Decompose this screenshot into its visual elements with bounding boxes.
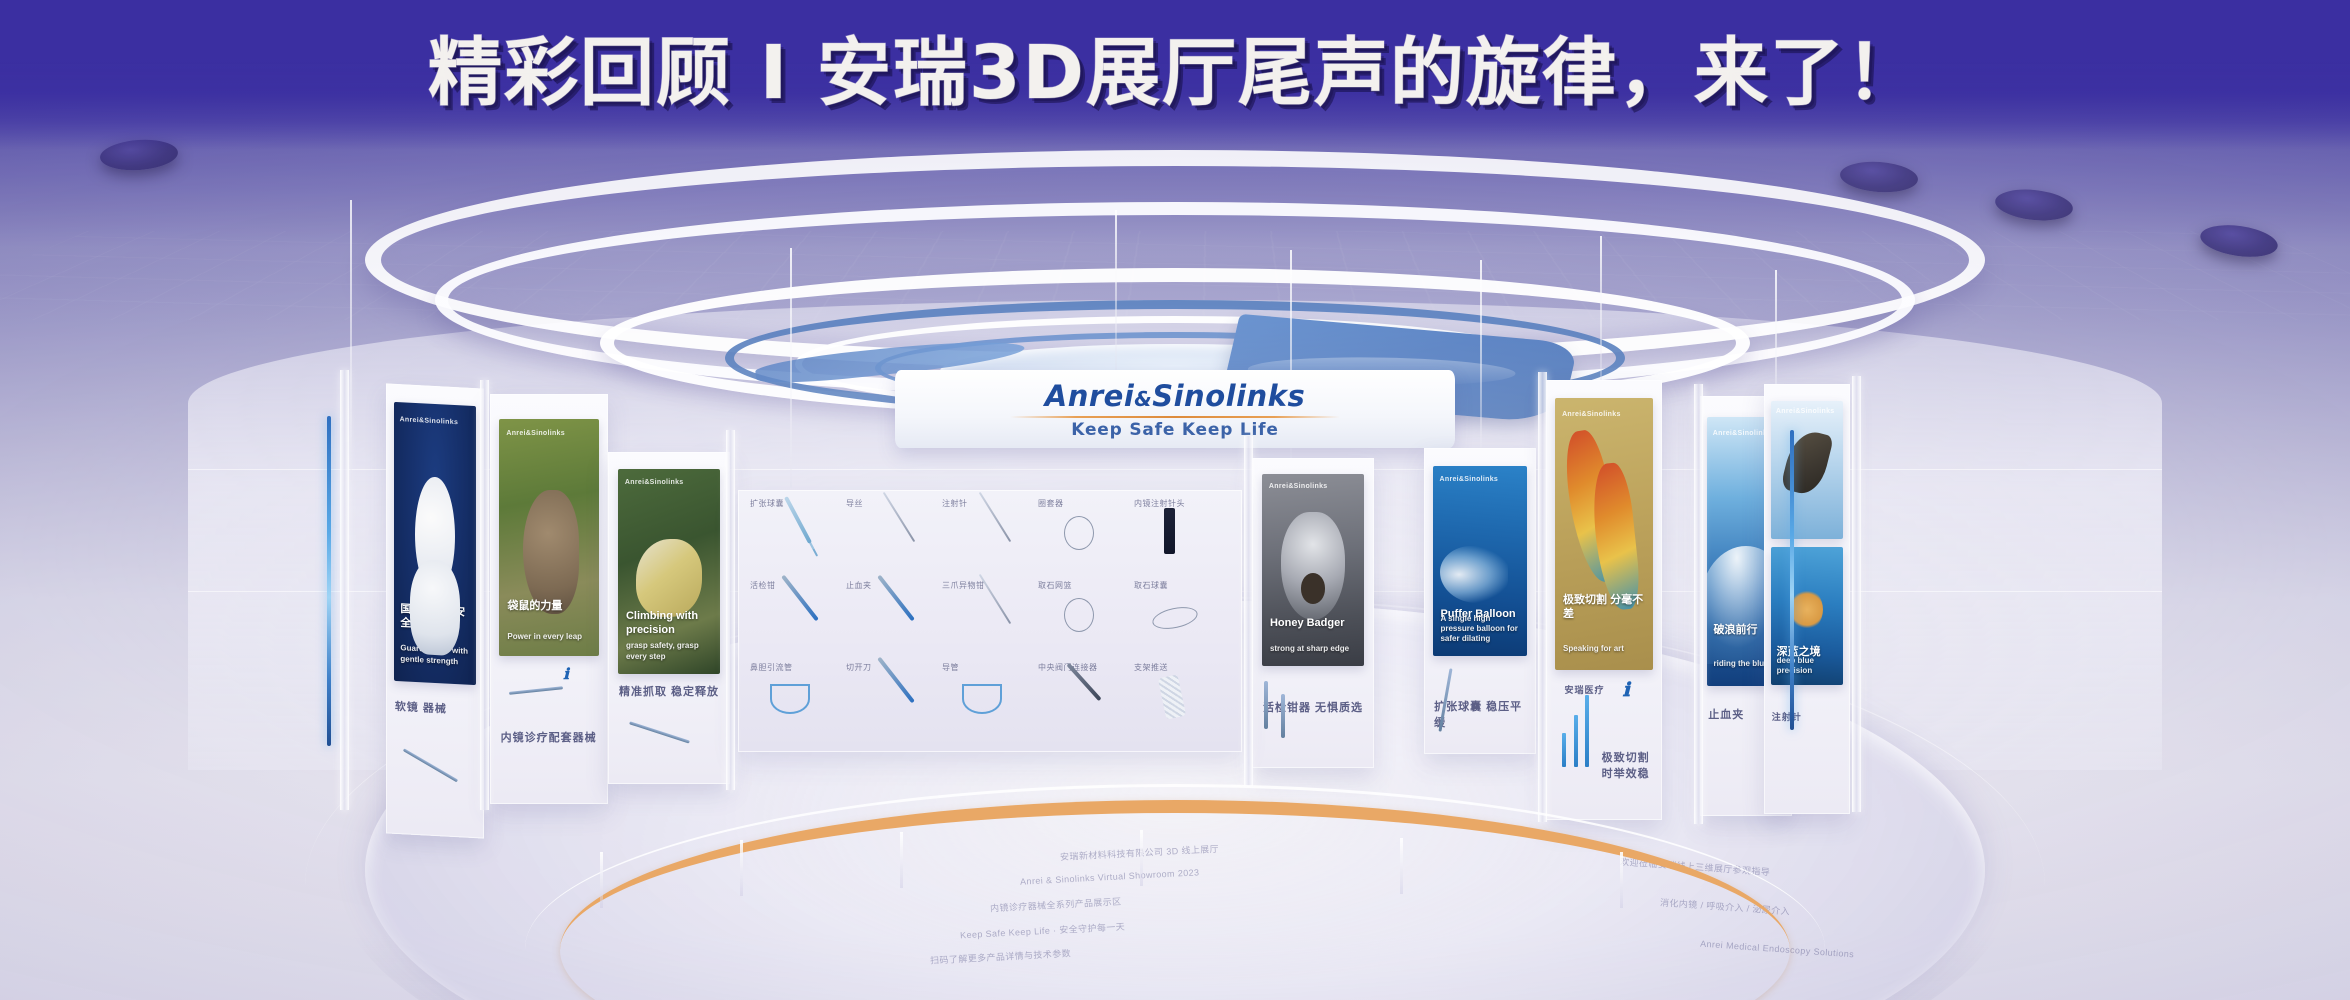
product-cell[interactable]: 导丝 (846, 498, 942, 580)
poster-brand-mark: Anrei&Sinolinks (1713, 430, 1772, 437)
exhibit-panel-puffer[interactable]: Anrei&Sinolinks Puffer Balloon A single … (1424, 448, 1536, 754)
product-board-row: 活检钳止血夹三爪异物钳取石网篮取石球囊 (750, 580, 1230, 662)
structural-pillar (1694, 384, 1703, 824)
brand-name: Anrei&Sinolinks (1045, 379, 1305, 413)
structural-pillar (340, 370, 349, 810)
product-label: 支架推送 (1134, 662, 1230, 673)
product-label: 取石球囊 (1134, 580, 1230, 591)
product-illustration (1064, 516, 1094, 550)
poster-brand-mark: Anrei&Sinolinks (1776, 408, 1835, 415)
product-cell[interactable]: 止血夹 (846, 580, 942, 662)
product-display-board[interactable]: 扩张球囊导丝注射针圈套器内镜注射针头活检钳止血夹三爪异物钳取石网篮取石球囊鼻胆引… (738, 490, 1242, 752)
structural-pillar (1538, 372, 1547, 822)
poster-subtitle: deep blue precision (1777, 656, 1838, 677)
device-illustration (509, 686, 563, 695)
product-label: 内镜注射针头 (1134, 498, 1230, 509)
product-cell[interactable]: 注射针 (942, 498, 1038, 580)
panel-caption: 精准抓取 稳定释放 (619, 684, 723, 701)
product-cell[interactable]: 支架推送 (1134, 662, 1230, 744)
rail-post (900, 832, 903, 888)
panel-caption: 活检钳器 无惧质选 (1263, 700, 1367, 717)
panel-caption: 扩张球囊 稳压平缓 (1434, 699, 1529, 732)
product-cell[interactable]: 圈套器 (1038, 498, 1134, 580)
rail-post (1140, 830, 1143, 886)
panel-caption: 注射针 (1772, 711, 1845, 725)
device-illustration (1281, 694, 1285, 738)
rail-post (1620, 852, 1623, 908)
exhibit-panel-badger[interactable]: Anrei&Sinolinks Honey Badger strong at s… (1252, 458, 1374, 768)
product-board-row: 扩张球囊导丝注射针圈套器内镜注射针头 (750, 498, 1230, 580)
hanging-rod (350, 200, 352, 480)
bar-chart-bar (1574, 715, 1578, 767)
structural-pillar (480, 380, 489, 810)
product-cell[interactable]: 鼻胆引流管 (750, 662, 846, 744)
structural-pillar (1852, 376, 1861, 812)
product-label: 止血夹 (846, 580, 942, 591)
showroom-banner: Anrei&Sinolinks Keep Safe Keep Life Anre… (0, 0, 2350, 1000)
poster-title: 袋鼠的力量 (507, 600, 590, 614)
product-label: 扩张球囊 (750, 498, 846, 509)
product-cell[interactable]: 取石网篮 (1038, 580, 1134, 662)
device-illustration (403, 748, 458, 782)
panel-caption: 极致切割 时举效稳 (1602, 750, 1655, 783)
product-label: 中央阀门连接器 (1038, 662, 1134, 673)
rail-post (1400, 838, 1403, 894)
poster-title: Climbing with precision (626, 610, 712, 638)
rail-post (600, 852, 603, 908)
poster-brand-mark: Anrei&Sinolinks (1440, 476, 1499, 483)
exhibit-panel-kangaroo[interactable]: Anrei&Sinolinks 袋鼠的力量 Power in every lea… (490, 394, 608, 804)
hanging-rod (1115, 210, 1117, 370)
poster-subtitle: Speaking for art (1563, 644, 1645, 654)
poster-iceberg[interactable]: 深蓝之境 deep blue precision (1771, 547, 1843, 685)
product-cell[interactable]: 切开刀 (846, 662, 942, 744)
product-illustration (962, 684, 1002, 714)
structural-pillar (1244, 436, 1253, 786)
exhibit-panel-eagle[interactable]: Anrei&Sinolinks 深蓝之境 deep blue precision… (1764, 384, 1850, 814)
poster-badger[interactable]: Anrei&Sinolinks Honey Badger strong at s… (1262, 474, 1364, 666)
poster-subtitle: grasp safety, grasp every step (626, 641, 712, 662)
device-illustration (1264, 681, 1268, 729)
product-label: 切开刀 (846, 662, 942, 673)
exhibit-panel-panda[interactable]: Anrei&Sinolinks 国宝熊猫 · 安全守护 Guarding lif… (386, 383, 484, 838)
product-illustration (770, 684, 810, 714)
product-cell[interactable]: 导管 (942, 662, 1038, 744)
poster-subtitle: Power in every leap (507, 632, 590, 642)
led-light-strip (327, 416, 331, 746)
brand-divider (1010, 416, 1340, 418)
product-cell[interactable]: 中央阀门连接器 (1038, 662, 1134, 744)
product-label: 圈套器 (1038, 498, 1134, 509)
panel-caption: 内镜诊疗配套器械 (501, 730, 601, 747)
product-label: 导管 (942, 662, 1038, 673)
poster-kangaroo[interactable]: Anrei&Sinolinks 袋鼠的力量 Power in every lea… (499, 419, 598, 657)
poster-brand-mark: Anrei&Sinolinks (1562, 411, 1621, 418)
poster-title: 极致切割 分毫不差 (1563, 594, 1645, 622)
poster-subtitle: strong at sharp edge (1270, 644, 1356, 654)
panel-caption: 安瑞医疗 (1565, 684, 1656, 698)
poster-title: 国宝熊猫 · 安全守护 (400, 603, 469, 634)
page-title: 精彩回顾 I 安瑞3D展厅尾声的旋律，来了！ (0, 36, 2350, 110)
brand-logo-icon: ℹ (1623, 679, 1630, 701)
bar-chart-bar (1562, 733, 1566, 767)
poster-brand-mark: Anrei&Sinolinks (506, 430, 565, 437)
device-illustration (629, 721, 690, 743)
hanging-rod (1480, 260, 1482, 470)
product-cell[interactable]: 取石球囊 (1134, 580, 1230, 662)
poster-puffer-balloon[interactable]: Anrei&Sinolinks Puffer Balloon A single … (1433, 466, 1527, 656)
bar-chart-bar (1585, 695, 1589, 767)
rail-post (740, 840, 743, 896)
poster-bee-eater[interactable]: Anrei&Sinolinks 极致切割 分毫不差 Speaking for a… (1555, 398, 1652, 671)
product-illustration (1150, 603, 1199, 632)
product-illustration (1158, 674, 1186, 719)
poster-eagle[interactable]: Anrei&Sinolinks (1771, 401, 1843, 539)
product-illustration (1064, 598, 1094, 632)
product-cell[interactable]: 扩张球囊 (750, 498, 846, 580)
poster-title: Honey Badger (1270, 617, 1356, 631)
poster-frog[interactable]: Anrei&Sinolinks Climbing with precision … (618, 469, 720, 675)
product-label: 取石网篮 (1038, 580, 1134, 591)
poster-subtitle: A single high pressure balloon for safer… (1440, 614, 1519, 645)
poster-panda[interactable]: Anrei&Sinolinks 国宝熊猫 · 安全守护 Guarding lif… (394, 402, 476, 685)
product-label: 活检钳 (750, 580, 846, 591)
product-cell[interactable]: 内镜注射针头 (1134, 498, 1230, 580)
product-illustration (1164, 508, 1175, 554)
poster-subtitle: Guarding life with gentle strength (400, 644, 469, 668)
product-cell[interactable]: 三爪异物钳 (942, 580, 1038, 662)
product-board-row: 鼻胆引流管切开刀导管中央阀门连接器支架推送 (750, 662, 1230, 744)
poster-brand-mark: Anrei&Sinolinks (400, 416, 459, 426)
structural-pillar (726, 430, 735, 790)
brand-logo-icon: ℹ (563, 665, 569, 683)
bird-shape (1589, 461, 1643, 612)
product-cell[interactable]: 活检钳 (750, 580, 846, 662)
exhibit-panel-frog[interactable]: Anrei&Sinolinks Climbing with precision … (608, 452, 730, 784)
panel-caption: 软镜 器械 (395, 699, 478, 720)
poster-brand-mark: Anrei&Sinolinks (1269, 483, 1328, 490)
poster-brand-mark: Anrei&Sinolinks (625, 479, 684, 486)
hanging-rod (790, 248, 792, 488)
brand-plate: Anrei&Sinolinks Keep Safe Keep Life (895, 370, 1455, 448)
hanging-rod (1600, 236, 1602, 396)
product-label: 鼻胆引流管 (750, 662, 846, 673)
exhibit-panel-bee-eater[interactable]: Anrei&Sinolinks 极致切割 分毫不差 Speaking for a… (1546, 380, 1662, 820)
led-light-strip (1790, 430, 1794, 730)
